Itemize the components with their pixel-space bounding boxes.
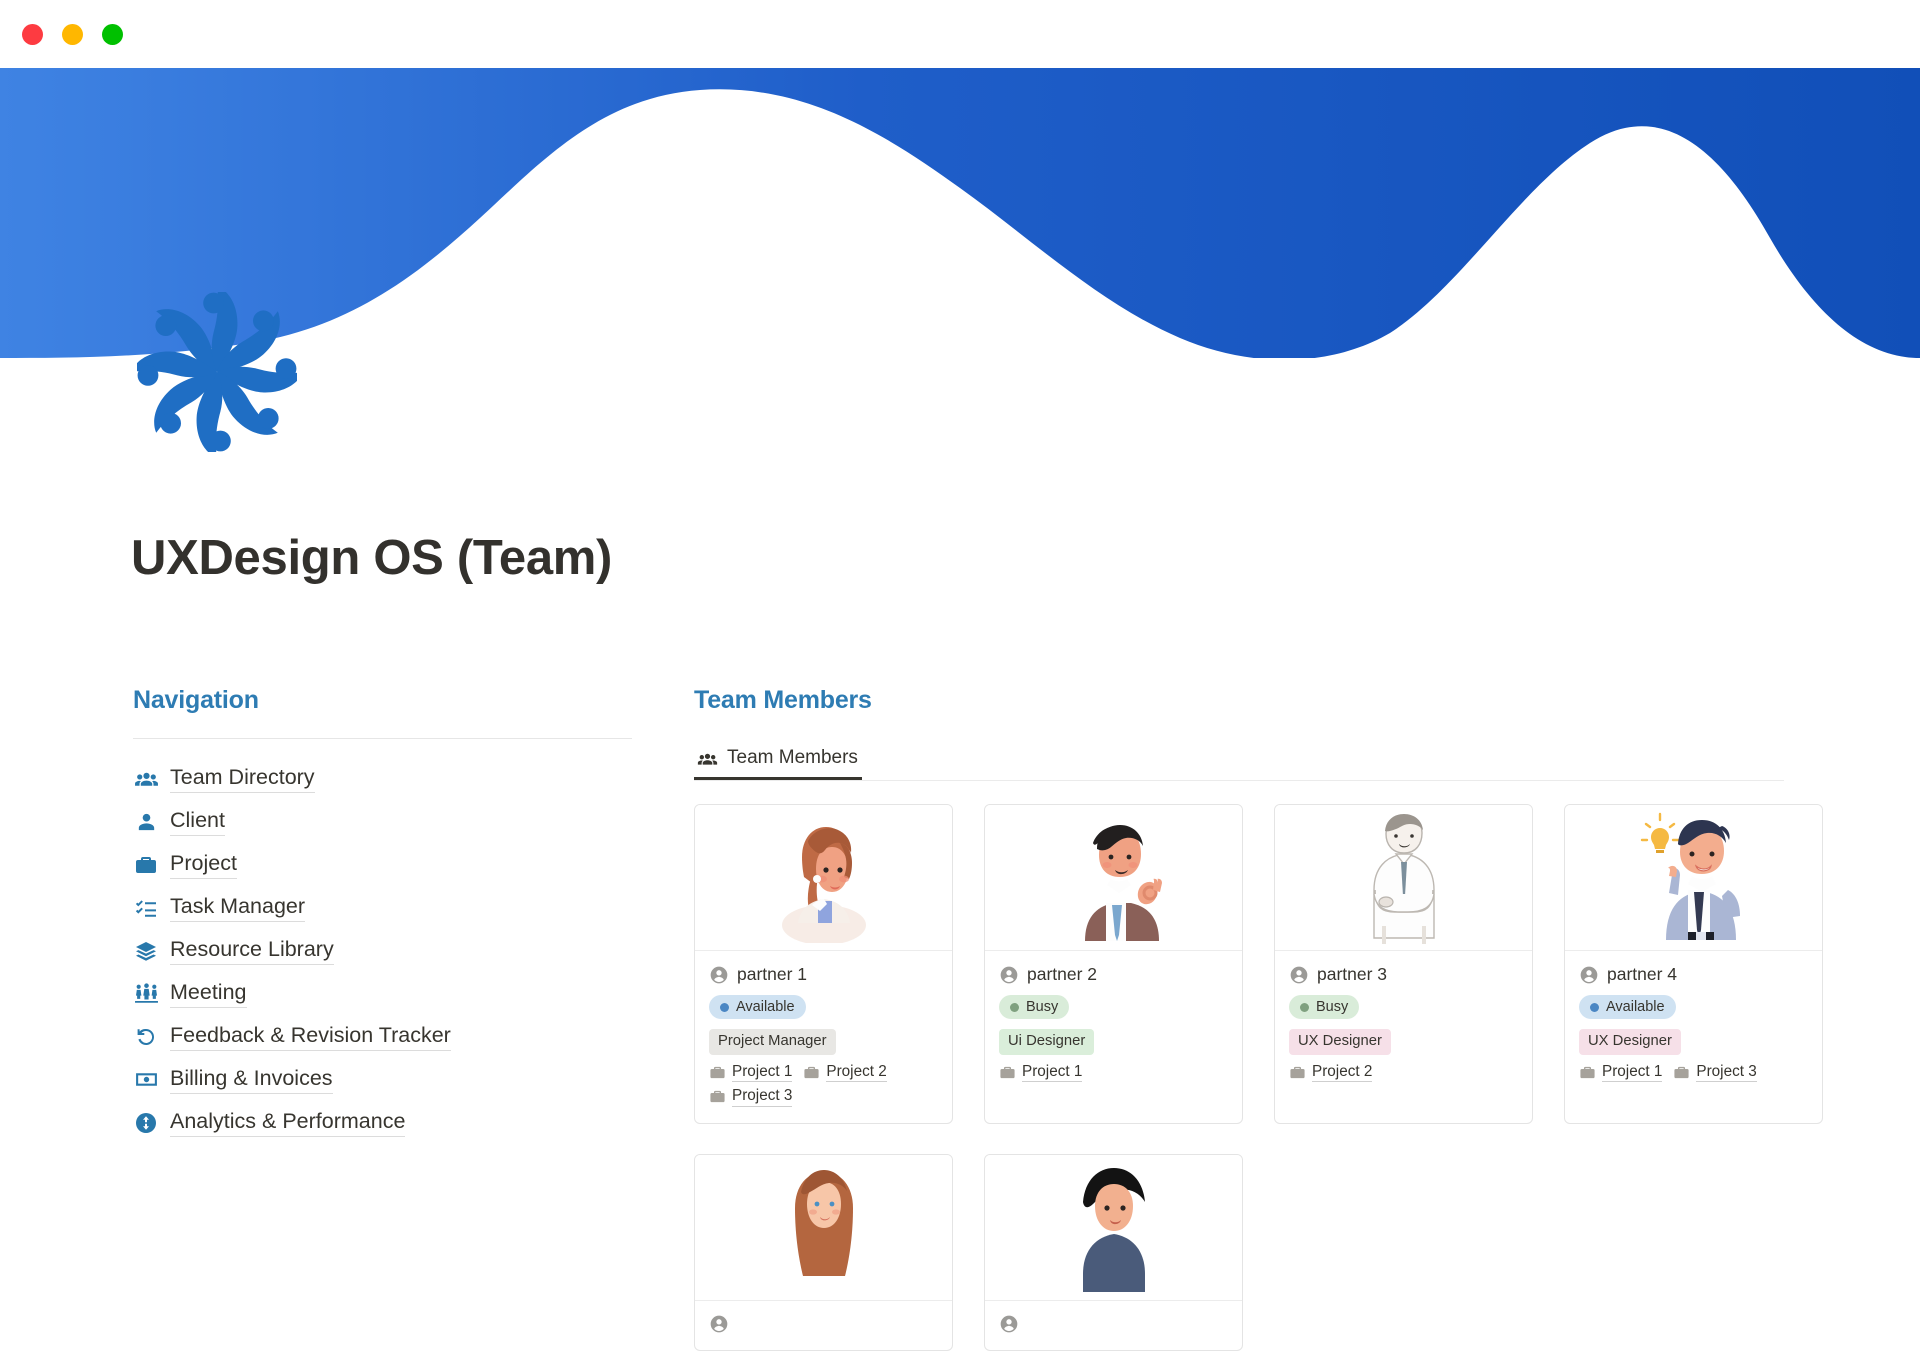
- person-icon: [133, 809, 159, 835]
- member-name: partner 2: [1027, 964, 1097, 985]
- member-avatar-illustration: [695, 805, 952, 951]
- project-label: Project 2: [826, 1063, 886, 1082]
- member-avatar-illustration: [985, 1155, 1242, 1301]
- member-card[interactable]: [694, 1154, 953, 1351]
- member-identity: [709, 1314, 938, 1334]
- account-circle-icon: [1289, 965, 1309, 985]
- sidebar-item-project[interactable]: Project: [133, 843, 633, 886]
- briefcase-icon: [1289, 1064, 1306, 1081]
- sidebar-item-label: Task Manager: [170, 893, 305, 922]
- project-link[interactable]: Project 3: [1673, 1063, 1756, 1082]
- tab-bar: Team Members: [694, 739, 1784, 781]
- member-identity: partner 3: [1289, 964, 1518, 985]
- role-tag: Project Manager: [709, 1029, 836, 1055]
- briefcase-icon: [133, 852, 159, 878]
- status-badge: Busy: [999, 995, 1069, 1019]
- briefcase-icon: [999, 1064, 1016, 1081]
- project-label: Project 1: [732, 1063, 792, 1082]
- status-dot-icon: [1590, 1003, 1599, 1012]
- member-card-body: partner 4 Available UX Designer Project …: [1565, 951, 1822, 1098]
- member-identity: partner 2: [999, 964, 1228, 985]
- navigation-panel: Navigation Team Directory Client: [133, 686, 633, 1144]
- status-badge: Busy: [1289, 995, 1359, 1019]
- briefcase-icon: [1673, 1064, 1690, 1081]
- briefcase-icon: [1579, 1064, 1596, 1081]
- account-circle-icon: [1579, 965, 1599, 985]
- briefcase-icon: [803, 1064, 820, 1081]
- account-circle-icon: [999, 1314, 1019, 1334]
- sidebar-item-client[interactable]: Client: [133, 800, 633, 843]
- member-card[interactable]: partner 1 Available Project Manager Proj…: [694, 804, 953, 1124]
- sidebar-item-label: Billing & Invoices: [170, 1065, 333, 1094]
- navigation-heading: Navigation: [133, 686, 633, 715]
- sidebar-item-label: Team Directory: [170, 764, 315, 793]
- project-link[interactable]: Project 1: [709, 1063, 792, 1082]
- man-black-hair-brown-suit-ok-gesture-illustration: [1049, 813, 1179, 943]
- member-card-body: partner 3 Busy UX Designer Project 2: [1275, 951, 1532, 1098]
- sidebar-item-feedback-revision-tracker[interactable]: Feedback & Revision Tracker: [133, 1015, 633, 1058]
- briefcase-icon: [709, 1064, 726, 1081]
- person-black-hair-illustration: [1059, 1162, 1169, 1292]
- status-label: Busy: [1026, 999, 1058, 1015]
- member-card-body: [985, 1301, 1242, 1350]
- sidebar-item-label: Analytics & Performance: [170, 1108, 405, 1137]
- account-circle-icon: [709, 965, 729, 985]
- member-projects: Project 2: [1289, 1063, 1518, 1082]
- briefcase-icon: [709, 1088, 726, 1105]
- member-card[interactable]: partner 2 Busy Ui Designer Project 1: [984, 804, 1243, 1124]
- member-identity: partner 1: [709, 964, 938, 985]
- man-grey-hair-white-shirt-arms-crossed-illustration: [1344, 812, 1464, 944]
- woman-brown-hair-white-blazer-illustration: [764, 813, 884, 943]
- project-label: Project 1: [1602, 1063, 1662, 1082]
- navigation-divider: [133, 738, 632, 739]
- sidebar-item-analytics-performance[interactable]: Analytics & Performance: [133, 1101, 633, 1144]
- team-members-panel: Team Members Team Members: [694, 686, 1784, 1351]
- logo-glyph: [137, 292, 297, 452]
- maximize-window-button[interactable]: [102, 24, 123, 45]
- status-dot-icon: [1300, 1003, 1309, 1012]
- project-link[interactable]: Project 1: [999, 1063, 1082, 1082]
- tab-team-members[interactable]: Team Members: [694, 739, 862, 780]
- sidebar-item-billing-invoices[interactable]: Billing & Invoices: [133, 1058, 633, 1101]
- project-label: Project 2: [1312, 1063, 1372, 1082]
- member-name: partner 1: [737, 964, 807, 985]
- project-link[interactable]: Project 2: [803, 1063, 886, 1082]
- member-projects: Project 1 Project 2 Project 3: [709, 1063, 938, 1107]
- member-card[interactable]: [984, 1154, 1243, 1351]
- member-avatar-illustration: [1275, 805, 1532, 951]
- member-card-body: partner 2 Busy Ui Designer Project 1: [985, 951, 1242, 1098]
- role-tag: UX Designer: [1579, 1029, 1681, 1055]
- man-navy-hair-grey-shirt-idea-lightbulb-illustration: [1628, 812, 1760, 944]
- member-card[interactable]: partner 3 Busy UX Designer Project 2: [1274, 804, 1533, 1124]
- status-dot-icon: [1010, 1003, 1019, 1012]
- project-link[interactable]: Project 1: [1579, 1063, 1662, 1082]
- project-label: Project 3: [732, 1087, 792, 1106]
- status-label: Available: [736, 999, 795, 1015]
- sidebar-item-label: Meeting: [170, 979, 247, 1008]
- team-pinwheel-logo: [137, 292, 297, 452]
- project-link[interactable]: Project 3: [709, 1087, 792, 1106]
- project-label: Project 3: [1696, 1063, 1756, 1082]
- sidebar-item-label: Feedback & Revision Tracker: [170, 1022, 451, 1051]
- revision-history-icon: [133, 1024, 159, 1050]
- sidebar-item-resource-library[interactable]: Resource Library: [133, 929, 633, 972]
- member-card-body: partner 1 Available Project Manager Proj…: [695, 951, 952, 1123]
- status-dot-icon: [720, 1003, 729, 1012]
- close-window-button[interactable]: [22, 24, 43, 45]
- member-identity: [999, 1314, 1228, 1334]
- checklist-icon: [133, 895, 159, 921]
- role-tag: Ui Designer: [999, 1029, 1094, 1055]
- page-title: UXDesign OS (Team): [131, 530, 612, 586]
- sidebar-item-label: Project: [170, 850, 237, 879]
- status-label: Busy: [1316, 999, 1348, 1015]
- role-tag: UX Designer: [1289, 1029, 1391, 1055]
- analytics-icon: [133, 1110, 159, 1136]
- status-badge: Available: [1579, 995, 1676, 1019]
- member-projects: Project 1: [999, 1063, 1228, 1082]
- status-badge: Available: [709, 995, 806, 1019]
- member-name: partner 4: [1607, 964, 1677, 985]
- minimize-window-button[interactable]: [62, 24, 83, 45]
- account-circle-icon: [709, 1314, 729, 1334]
- status-label: Available: [1606, 999, 1665, 1015]
- sidebar-item-team-directory[interactable]: Team Directory: [133, 757, 633, 800]
- account-circle-icon: [999, 965, 1019, 985]
- member-avatar-illustration: [695, 1155, 952, 1301]
- people-group-icon: [696, 747, 718, 769]
- team-members-heading: Team Members: [694, 686, 1784, 715]
- member-name: partner 3: [1317, 964, 1387, 985]
- banknote-icon: [133, 1067, 159, 1093]
- member-avatar-illustration: [1565, 805, 1822, 951]
- meeting-room-icon: [133, 981, 159, 1007]
- member-card[interactable]: partner 4 Available UX Designer Project …: [1564, 804, 1823, 1124]
- member-projects: Project 1 Project 3: [1579, 1063, 1808, 1082]
- project-link[interactable]: Project 2: [1289, 1063, 1372, 1082]
- window-titlebar: [0, 0, 1920, 68]
- sidebar-item-task-manager[interactable]: Task Manager: [133, 886, 633, 929]
- sidebar-item-meeting[interactable]: Meeting: [133, 972, 633, 1015]
- team-members-grid: partner 1 Available Project Manager Proj…: [694, 804, 1784, 1351]
- sidebar-item-label: Client: [170, 807, 225, 836]
- navigation-list: Team Directory Client Project: [133, 757, 633, 1144]
- sidebar-item-label: Resource Library: [170, 936, 334, 965]
- lightbulb-icon: [1642, 814, 1678, 853]
- member-card-body: [695, 1301, 952, 1350]
- tab-label: Team Members: [727, 747, 858, 769]
- member-identity: partner 4: [1579, 964, 1808, 985]
- woman-long-brown-hair-illustration: [769, 1162, 879, 1292]
- project-label: Project 1: [1022, 1063, 1082, 1082]
- layers-icon: [133, 938, 159, 964]
- member-avatar-illustration: [985, 805, 1242, 951]
- people-group-icon: [133, 766, 159, 792]
